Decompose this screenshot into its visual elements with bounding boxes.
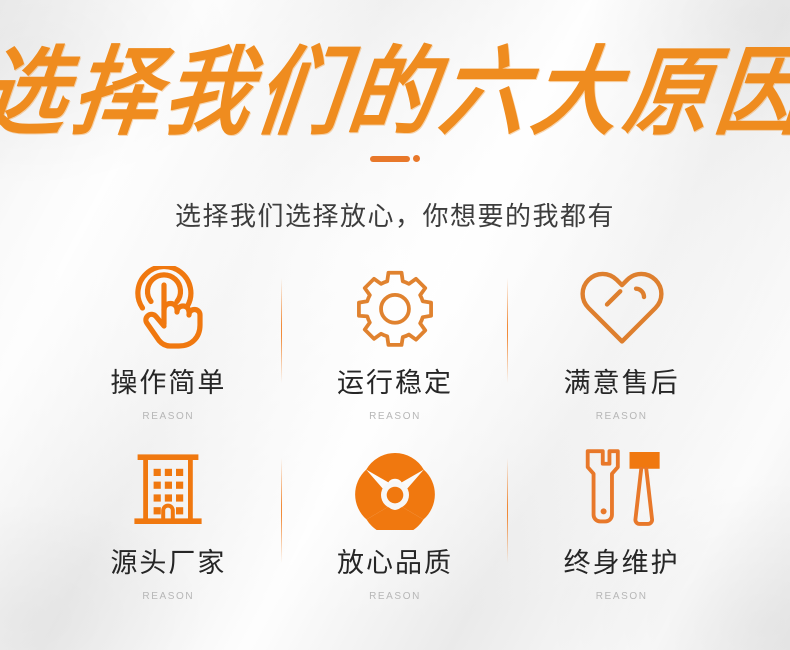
reason-sub: REASON (369, 591, 421, 602)
reason-cell-2: 运行稳定 REASON (282, 258, 509, 438)
reason-sub: REASON (369, 411, 421, 422)
radiation-icon (351, 442, 439, 534)
divider-bar (370, 156, 410, 162)
heart-icon (578, 262, 666, 354)
reasons-grid: 操作简单 REASON 运行稳定 REASON 满 (55, 258, 735, 618)
promo-banner: 选择我们的六大原因 选择我们选择放心，你想要的我都有 操作简单 REASON (0, 0, 790, 650)
page-subtitle: 选择我们选择放心，你想要的我都有 (0, 196, 790, 233)
reason-label: 终身维护 (564, 550, 680, 577)
divider (0, 155, 790, 162)
reason-label: 操作简单 (110, 370, 226, 397)
reason-sub: REASON (596, 591, 648, 602)
wrench-hammer-icon (576, 442, 668, 534)
reason-sub: REASON (142, 591, 194, 602)
reason-cell-1: 操作简单 REASON (55, 258, 282, 438)
gear-icon (354, 262, 436, 354)
reason-cell-6: 终身维护 REASON (508, 438, 735, 618)
reason-label: 源头厂家 (110, 550, 226, 577)
divider-dot-icon (413, 155, 420, 162)
factory-building-icon (128, 442, 208, 534)
reason-cell-4: 源头厂家 REASON (55, 438, 282, 618)
tap-gesture-icon (130, 262, 206, 354)
reason-cell-5: 放心品质 REASON (282, 438, 509, 618)
page-title: 选择我们的六大原因 (0, 38, 790, 148)
page-title-text: 选择我们的六大原因 (0, 45, 790, 141)
reason-sub: REASON (596, 411, 648, 422)
reason-label: 运行稳定 (337, 370, 453, 397)
reason-label: 放心品质 (337, 550, 453, 577)
reason-sub: REASON (142, 411, 194, 422)
reason-label: 满意售后 (564, 370, 680, 397)
reason-cell-3: 满意售后 REASON (508, 258, 735, 438)
